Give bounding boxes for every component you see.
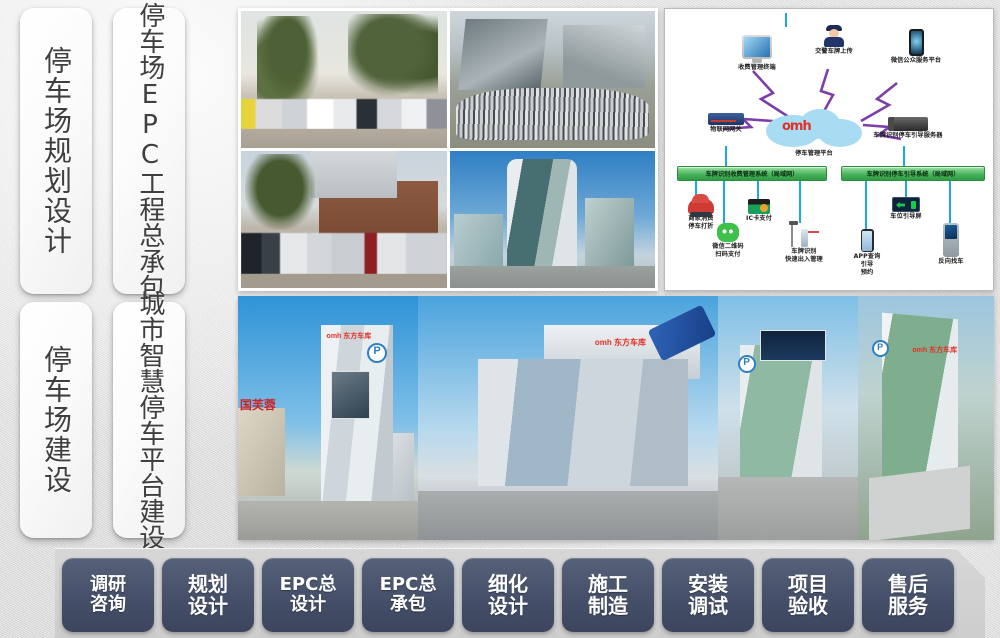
process-step-line1: 售后 — [888, 573, 928, 595]
diagram-link — [949, 179, 951, 225]
diagram-bar-label: 车牌识别停车引导系统（局域网） — [867, 169, 960, 178]
process-step-line2: 设计 — [188, 595, 228, 617]
diagram-node-label: APP查询 引导 预约 — [845, 253, 889, 276]
rendering-garage-facade: omh 东方车库 — [418, 296, 718, 540]
rendering-detail — [238, 501, 418, 540]
rendering-sign-left: 国芙蓉 — [240, 396, 276, 413]
sidebar-card-label: 停车场EPC工程总承包 — [135, 2, 163, 300]
diagram-node-label: 反向找车 — [929, 258, 973, 266]
photo-street-parking-lot — [241, 11, 447, 148]
diagram-bar-label: 车牌识别收费管理系统（局域网） — [706, 169, 799, 178]
sidebar-card-label: 停车场规划设计 — [41, 46, 71, 256]
router-icon — [708, 113, 744, 125]
rendering-detail — [418, 491, 718, 540]
diagram-node-charge-terminal: 收费管理终端 — [719, 35, 795, 72]
process-step-line2: 咨询 — [90, 595, 126, 615]
sidebar-card-smart-parking-platform[interactable]: 城市智慧停车平台建设 — [113, 302, 185, 538]
photo-detail — [311, 151, 397, 198]
sidebar-card-label: 停车场建设 — [41, 345, 71, 495]
cloud-icon: omh — [766, 107, 862, 149]
guidance-screen-icon — [892, 197, 920, 212]
photo-office-tower — [450, 151, 656, 288]
app-phone-icon — [861, 229, 874, 252]
diagram-node-label: 车牌识别 快速出入管理 — [779, 248, 829, 264]
process-step-construction[interactable]: 施工 制造 — [562, 558, 654, 632]
photo-aerial-parking — [450, 11, 656, 148]
diagram-link — [799, 179, 801, 223]
diagram-link — [725, 146, 727, 166]
kiosk-icon — [943, 223, 959, 257]
diagram-node-space-guidance-screen: 车位引导屏 — [883, 197, 929, 221]
process-step-line1: 调研 — [90, 575, 126, 595]
process-step-line2: 制造 — [588, 595, 628, 617]
diagram-bar-charging-system: 车牌识别收费管理系统（局域网） — [677, 166, 827, 181]
diagram-node-label: 微信公众服务平台 — [871, 57, 961, 65]
rendering-detail: omh 东方车库 P — [321, 325, 393, 501]
process-step-epc-design[interactable]: EPC总 设计 — [262, 558, 354, 632]
diagram-link — [785, 13, 787, 27]
process-step-after-sales[interactable]: 售后 服务 — [862, 558, 954, 632]
diagram-node-label: 交警车牌上传 — [795, 48, 873, 56]
rendering-detail — [331, 371, 370, 419]
parking-badge: P — [738, 355, 756, 373]
photo-detail — [454, 214, 503, 266]
photo-detail — [450, 266, 656, 288]
process-step-row: 调研 咨询 规划 设计 EPC总 设计 EPC总 承包 细化 设计 施工 制造 … — [62, 558, 982, 632]
barrier-gate-icon — [789, 221, 819, 247]
diagram-node-wechat-qr-pay: 微信二维码 扫码支付 — [703, 223, 753, 259]
process-step-line1: EPC总 — [380, 575, 437, 595]
process-step-line2: 设计 — [290, 595, 326, 615]
diagram-link — [865, 179, 867, 231]
monitor-stand-icon — [752, 59, 762, 63]
rendering-detail — [760, 330, 826, 361]
process-step-line2: 调试 — [688, 595, 728, 617]
process-step-line2: 设计 — [488, 595, 528, 617]
process-step-planning-design[interactable]: 规划 设计 — [162, 558, 254, 632]
rendering-billboard-wall: P — [718, 296, 858, 540]
wechat-icon — [717, 223, 739, 242]
diagram-link — [757, 179, 759, 201]
server-icon — [888, 117, 928, 131]
photo-collage — [238, 8, 658, 291]
rendering-detail — [869, 466, 970, 540]
diagram-node-reverse-car-finding: 反向找车 — [929, 223, 973, 266]
diagram-node-label: 停车管理平台 — [759, 150, 869, 158]
ic-card-icon — [748, 199, 770, 214]
rendering-aerial-tower: P omh 东方车库 — [858, 296, 994, 540]
photo-lot-brick-building — [241, 151, 447, 288]
monitor-icon — [742, 35, 772, 59]
omh-logo: omh 东方车库 — [327, 331, 372, 341]
diagram-link — [905, 179, 907, 199]
diagram-node-plate-guide-server: 车牌识别停车引导服务器 — [861, 117, 955, 140]
photo-detail — [245, 154, 315, 231]
omh-logo: omh — [782, 119, 811, 134]
diagram-node-label: 微信二维码 扫码支付 — [703, 243, 753, 259]
police-officer-icon — [824, 25, 844, 47]
smartphone-icon — [909, 29, 924, 56]
diagram-link — [723, 179, 725, 225]
diagram-node-cloud-platform: omh 停车管理平台 — [759, 107, 869, 158]
process-step-line2: 服务 — [888, 595, 928, 617]
omh-logo: omh 东方车库 — [912, 345, 957, 355]
rendering-tower-parking: 国芙蓉 休闲 omh 东方车库 P — [238, 296, 418, 540]
diagram-node-label: 车位引导屏 — [883, 213, 929, 221]
car-icon — [688, 199, 714, 214]
rendering-detail — [718, 477, 858, 540]
process-step-line1: 规划 — [188, 573, 228, 595]
diagram-node-label: 车牌识别停车引导服务器 — [861, 132, 955, 140]
process-step-line1: 细化 — [488, 573, 528, 595]
slide-canvas: 停车场规划设计 停车场EPC工程总承包 停车场建设 城市智慧停车平台建设 — [0, 0, 1000, 638]
process-step-line1: 施工 — [588, 573, 628, 595]
diagram-link — [903, 146, 905, 166]
system-architecture-diagram: 收费管理终端 交警车牌上传 微信公众服务平台 omh — [664, 8, 994, 291]
parking-badge: P — [367, 343, 387, 363]
sidebar-card-label: 城市智慧停车平台建设 — [135, 290, 163, 550]
diagram-node-label: IC卡支付 — [737, 215, 781, 223]
process-step-acceptance[interactable]: 项目 验收 — [762, 558, 854, 632]
process-step-line2: 验收 — [788, 595, 828, 617]
parking-badge: P — [872, 340, 889, 357]
diagram-node-label: 物联网网关 — [687, 126, 765, 134]
diagram-node-app-query-guide: APP查询 引导 预约 — [845, 229, 889, 276]
diagram-node-plate-fast-access: 车牌识别 快速出入管理 — [779, 221, 829, 264]
photo-detail — [241, 274, 447, 288]
process-step-line1: 安装 — [688, 573, 728, 595]
sidebar-card-parking-epc-contracting[interactable]: 停车场EPC工程总承包 — [113, 8, 185, 294]
process-step-research[interactable]: 调研 咨询 — [62, 558, 154, 632]
sidebar-card-parking-construction[interactable]: 停车场建设 — [20, 302, 92, 538]
process-step-line2: 承包 — [390, 595, 426, 615]
sidebar-card-parking-planning-design[interactable]: 停车场规划设计 — [20, 8, 92, 294]
photo-detail — [241, 99, 447, 129]
process-step-epc-contracting[interactable]: EPC总 承包 — [362, 558, 454, 632]
photo-detail — [241, 233, 447, 274]
rendering-strip: 国芙蓉 休闲 omh 东方车库 P omh 东方车库 — [238, 296, 994, 540]
process-step-line1: 项目 — [788, 573, 828, 595]
rendering-detail: 国芙蓉 — [238, 408, 285, 496]
process-step-detail-design[interactable]: 细化 设计 — [462, 558, 554, 632]
diagram-node-traffic-police-upload: 交警车牌上传 — [795, 25, 873, 56]
content-panel: 收费管理终端 交警车牌上传 微信公众服务平台 omh — [238, 8, 994, 540]
process-step-line1: EPC总 — [280, 575, 337, 595]
rendering-detail — [478, 359, 688, 486]
process-step-installation[interactable]: 安装 调试 — [662, 558, 754, 632]
diagram-node-label: 收费管理终端 — [719, 64, 795, 72]
diagram-bar-guidance-system: 车牌识别停车引导系统（局域网） — [841, 166, 985, 181]
omh-logo: omh 东方车库 — [595, 337, 646, 348]
diagram-node-wechat-public-platform: 微信公众服务平台 — [871, 29, 961, 65]
diagram-node-ic-card-pay: IC卡支付 — [737, 199, 781, 223]
diagram-node-iot-gateway: 物联网网关 — [687, 113, 765, 134]
photo-detail — [456, 88, 649, 140]
photo-detail — [241, 129, 447, 148]
